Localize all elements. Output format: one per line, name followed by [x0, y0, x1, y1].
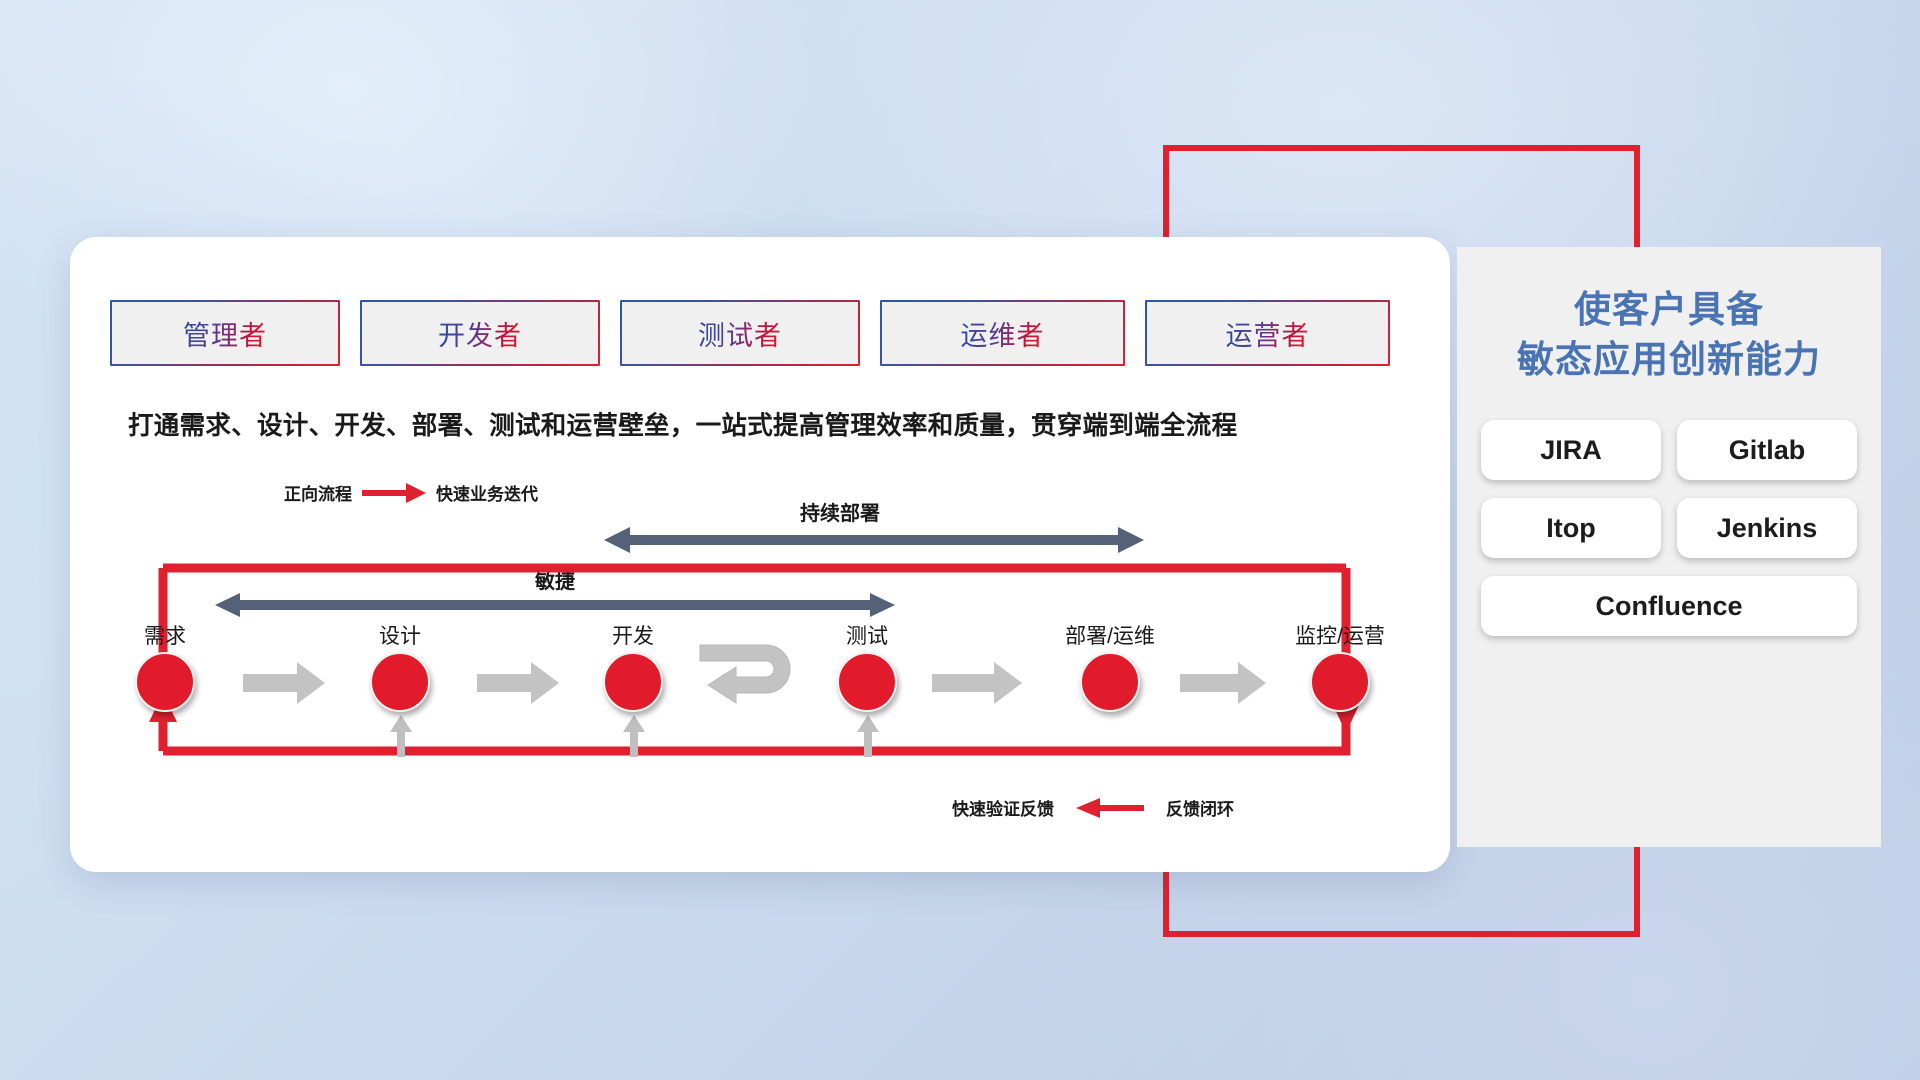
continuous-deploy-label: 持续部署: [800, 497, 880, 526]
pipeline-node-部署-运维[interactable]: [1080, 652, 1140, 712]
right-arrow-icon: [362, 483, 426, 503]
right-panel: 使客户具备 敏态应用创新能力 JIRA Gitlab Itop Jenkins …: [1457, 247, 1881, 847]
role-label: 运维者: [961, 314, 1045, 353]
panel-title-line2: 敏态应用创新能力: [1457, 335, 1881, 385]
stage-label-2: 开发: [612, 620, 654, 650]
gray-up-arrow-test: [857, 715, 879, 757]
panel-title-line1: 使客户具备: [1457, 285, 1881, 335]
block-arrow-right-icon-3: [932, 662, 1022, 704]
tool-label: Itop: [1546, 513, 1595, 544]
tool-button-jenkins[interactable]: Jenkins: [1677, 498, 1857, 558]
forward-flow-legend: 正向流程 快速业务迭代: [284, 480, 538, 505]
pipeline-node-监控-运营[interactable]: [1310, 652, 1370, 712]
role-box-3[interactable]: 运维者: [880, 300, 1125, 366]
left-arrow-icon: [1076, 798, 1144, 818]
forward-flow-left-label: 正向流程: [284, 480, 352, 505]
feedback-left-label: 快速验证反馈: [952, 795, 1054, 820]
tool-button-jira[interactable]: JIRA: [1481, 420, 1661, 480]
stage-label-0: 需求: [144, 620, 186, 650]
tool-list: JIRA Gitlab Itop Jenkins Confluence: [1457, 420, 1881, 636]
tool-label: JIRA: [1540, 435, 1602, 466]
block-arrow-right-icon-2: [477, 662, 559, 704]
stage-label-4: 部署/运维: [1065, 620, 1155, 650]
stage-label-3: 测试: [846, 620, 888, 650]
feedback-legend: 快速验证反馈 反馈闭环: [952, 795, 1234, 820]
tool-button-confluence[interactable]: Confluence: [1481, 576, 1857, 636]
block-arrow-right-icon-1: [243, 662, 325, 704]
role-box-0[interactable]: 管理者: [110, 300, 340, 366]
role-box-1[interactable]: 开发者: [360, 300, 600, 366]
role-label: 运营者: [1226, 314, 1310, 353]
gray-up-arrow-design: [390, 715, 412, 757]
role-label: 开发者: [438, 314, 522, 353]
pipeline-node-开发[interactable]: [603, 652, 663, 712]
panel-title: 使客户具备 敏态应用创新能力: [1457, 247, 1881, 384]
role-label: 测试者: [698, 314, 782, 353]
continuous-deploy-arrow: [604, 527, 1144, 553]
tool-label: Gitlab: [1729, 435, 1806, 466]
tool-button-itop[interactable]: Itop: [1481, 498, 1661, 558]
u-turn-loop-arrow-icon: [692, 637, 800, 715]
stage-label-5: 监控/运营: [1295, 620, 1385, 650]
gray-up-arrow-develop: [623, 715, 645, 757]
role-box-2[interactable]: 测试者: [620, 300, 860, 366]
tool-label: Jenkins: [1717, 513, 1818, 544]
stage-label-1: 设计: [379, 620, 421, 650]
pipeline-node-需求[interactable]: [135, 652, 195, 712]
feedback-right-label: 反馈闭环: [1166, 795, 1234, 820]
role-label: 管理者: [183, 314, 267, 353]
role-box-4[interactable]: 运营者: [1145, 300, 1390, 366]
tool-label: Confluence: [1595, 591, 1742, 622]
block-arrow-right-icon-4: [1180, 662, 1266, 704]
headline-text: 打通需求、设计、开发、部署、测试和运营壁垒，一站式提高管理效率和质量，贯穿端到端…: [128, 405, 1237, 442]
role-box-row: 管理者 开发者 测试者 运维者 运营者: [110, 300, 1390, 366]
forward-flow-right-label: 快速业务迭代: [436, 480, 538, 505]
pipeline-node-设计[interactable]: [370, 652, 430, 712]
tool-button-gitlab[interactable]: Gitlab: [1677, 420, 1857, 480]
pipeline-node-测试[interactable]: [837, 652, 897, 712]
